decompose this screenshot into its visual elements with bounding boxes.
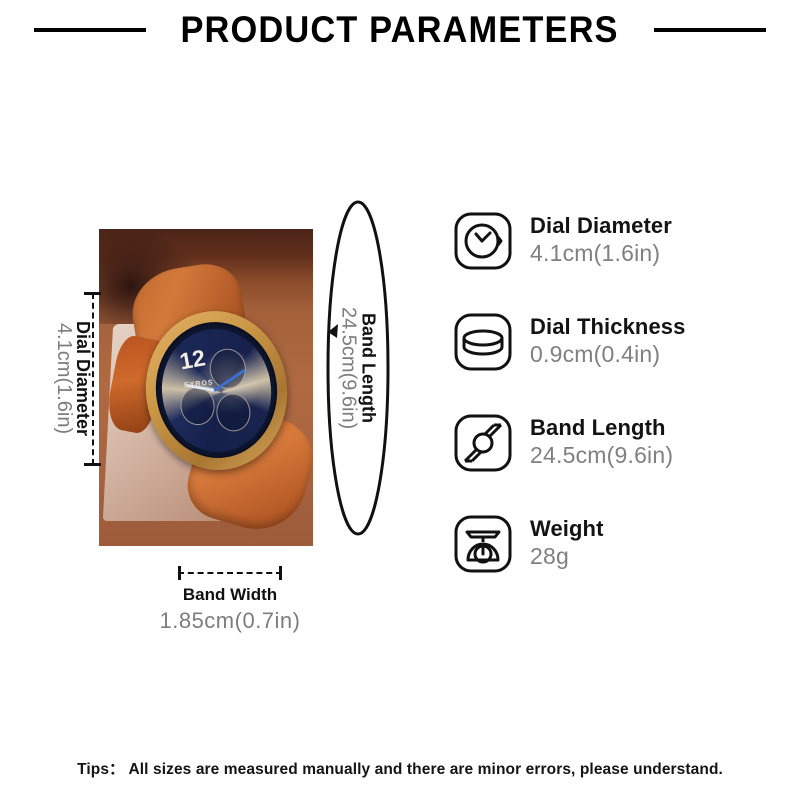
page-header: PRODUCT PARAMETERS — [0, 0, 800, 60]
title-rule-right — [654, 28, 766, 32]
watch-dial-icon — [452, 210, 514, 272]
dimension-dial-diameter-labels: 4.1cm(1.6in) Dial Diameter — [54, 293, 92, 465]
dimension-band-length-value: 24.5cm(9.6in) — [339, 307, 359, 429]
dimension-band-length: 24.5cm(9.6in) Band Length — [320, 196, 396, 540]
dimension-dial-diameter-value: 4.1cm(1.6in) — [54, 323, 74, 434]
dimension-line-horizontal-wrap — [178, 566, 282, 580]
dimension-dial-diameter-label: Dial Diameter — [74, 321, 92, 436]
spec-label: Dial Thickness — [530, 314, 685, 340]
dimension-dial-diameter: 4.1cm(1.6in) Dial Diameter — [54, 293, 102, 465]
dimension-band-width-label: Band Width — [120, 584, 340, 607]
dimension-band-length-labels: 24.5cm(9.6in) Band Length — [320, 196, 396, 540]
dimension-cap-left — [178, 566, 181, 580]
watch-subdial — [179, 386, 216, 427]
spec-value: 4.1cm(1.6in) — [530, 240, 672, 268]
watch-dial: 12 EYROS — [156, 324, 278, 457]
spec-label: Weight — [530, 516, 604, 542]
spec-row-dial-diameter: Dial Diameter 4.1cm(1.6in) — [452, 190, 782, 291]
watch-subdial — [215, 392, 252, 433]
kitchen-scale-icon — [452, 513, 514, 575]
watch-bezel: 12 EYROS — [149, 317, 284, 465]
spec-row-dial-thickness: Dial Thickness 0.9cm(0.4in) — [452, 291, 782, 392]
page-title: PRODUCT PARAMETERS — [181, 9, 619, 51]
disc-thickness-icon — [452, 311, 514, 373]
watch-strap-icon — [452, 412, 514, 474]
title-rule-left — [34, 28, 146, 32]
spec-label: Dial Diameter — [530, 213, 672, 239]
spec-label: Band Length — [530, 415, 673, 441]
dimension-line-horizontal — [178, 572, 282, 574]
dimension-cap-right — [279, 566, 282, 580]
spec-list: Dial Diameter 4.1cm(1.6in) Dial Thicknes… — [452, 190, 782, 594]
spec-text-dial-thickness: Dial Thickness 0.9cm(0.4in) — [530, 314, 685, 369]
product-photo: 12 EYROS — [99, 229, 313, 546]
spec-value: 0.9cm(0.4in) — [530, 341, 685, 369]
spec-text-weight: Weight 28g — [530, 516, 604, 571]
dimension-band-width: Band Width 1.85cm(0.7in) — [120, 566, 340, 634]
dial-numeral-12: 12 — [178, 347, 207, 374]
spec-row-band-length: Band Length 24.5cm(9.6in) — [452, 392, 782, 493]
dimension-band-length-label: Band Length — [360, 313, 378, 423]
spec-value: 28g — [530, 543, 604, 571]
spec-text-band-length: Band Length 24.5cm(9.6in) — [530, 415, 673, 470]
spec-row-weight: Weight 28g — [452, 493, 782, 594]
spec-value: 24.5cm(9.6in) — [530, 442, 673, 470]
spec-text-dial-diameter: Dial Diameter 4.1cm(1.6in) — [530, 213, 672, 268]
dimension-band-width-value: 1.85cm(0.7in) — [120, 607, 340, 635]
footer-tip: Tips： All sizes are measured manually an… — [0, 757, 800, 779]
